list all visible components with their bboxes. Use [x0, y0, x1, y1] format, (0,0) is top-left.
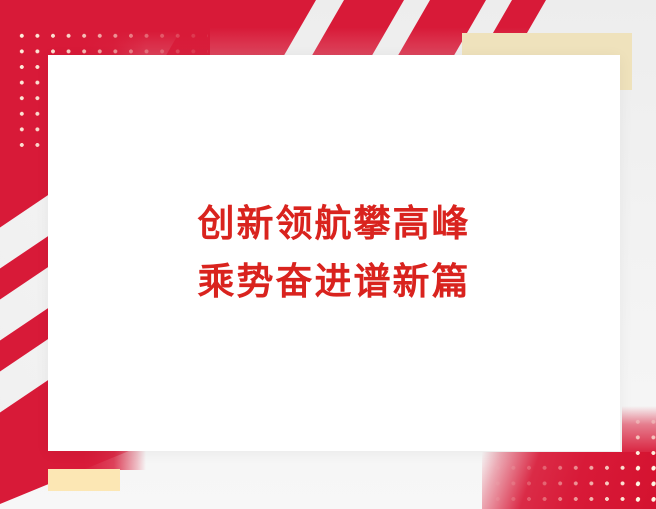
headline-line-1: 创新领航攀高峰	[198, 196, 471, 252]
poster-canvas: 创新领航攀高峰 乘势奋进谱新篇	[0, 0, 656, 509]
left-band-corner-wedge	[0, 444, 146, 504]
halftone-dot-grid-bottom-right-tall	[626, 410, 656, 509]
page-title: 创新领航攀高峰 乘势奋进谱新篇	[198, 196, 471, 310]
red-block-bottom-right-tall	[622, 406, 656, 509]
headline-line-2: 乘势奋进谱新篇	[198, 254, 471, 310]
white-content-card: 创新领航攀高峰 乘势奋进谱新篇	[48, 55, 620, 451]
red-block-bottom-right	[482, 452, 656, 509]
gold-bracket-horizontal-arm	[462, 33, 632, 56]
gold-accent-bar	[48, 469, 120, 491]
halftone-dot-grid-bottom-right	[486, 456, 656, 509]
